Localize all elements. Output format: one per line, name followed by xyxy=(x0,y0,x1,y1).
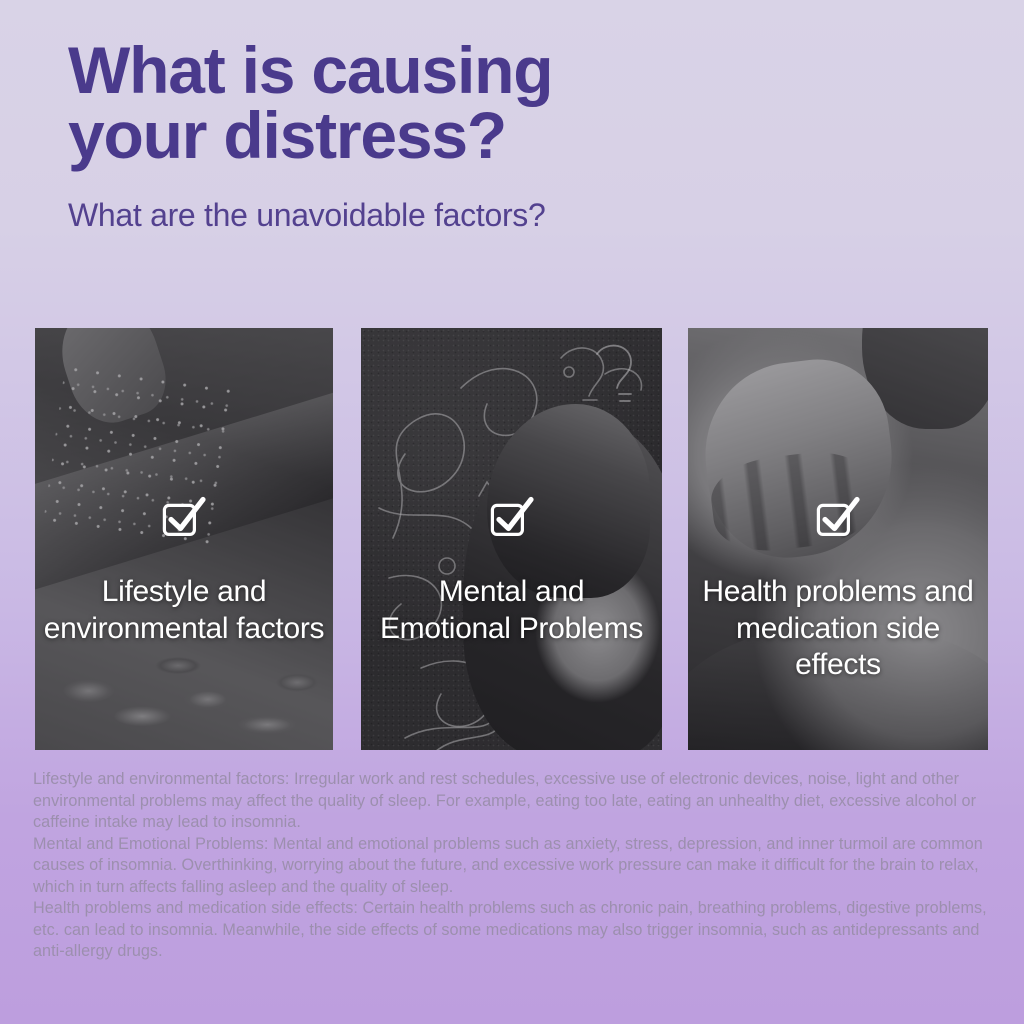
body-copy: Lifestyle and environmental factors: Irr… xyxy=(33,769,991,963)
header: What is causing your distress? What are … xyxy=(68,38,828,234)
card-caption-line-2: medication side effects xyxy=(736,612,940,682)
body-paragraph-lifestyle: Lifestyle and environmental factors: Irr… xyxy=(33,769,991,834)
headline-line-2: your distress? xyxy=(68,103,828,168)
factor-cards-row: Lifestyle and environmental factors xyxy=(0,328,1024,750)
checked-checkbox-icon xyxy=(489,496,535,543)
card-caption-line-1: Lifestyle and xyxy=(102,575,267,608)
card-caption-line-2: environmental factors xyxy=(44,612,325,645)
headline-line-1: What is causing xyxy=(68,33,552,107)
card-caption-line-1: Mental and xyxy=(439,575,584,608)
checked-checkbox-icon xyxy=(161,496,207,543)
card-caption: Health problems and medication side effe… xyxy=(688,574,988,684)
card-caption: Lifestyle and environmental factors xyxy=(35,574,333,647)
card-content: Health problems and medication side effe… xyxy=(688,328,988,750)
card-caption: Mental and Emotional Problems xyxy=(361,574,662,647)
card-caption-line-2: Emotional Problems xyxy=(380,612,643,645)
factor-card-mental: Mental and Emotional Problems xyxy=(361,328,662,750)
body-paragraph-health: Health problems and medication side effe… xyxy=(33,898,991,963)
page-title: What is causing your distress? xyxy=(68,38,828,169)
factor-card-health: Health problems and medication side effe… xyxy=(688,328,988,750)
checked-checkbox-icon xyxy=(815,496,861,543)
card-content: Lifestyle and environmental factors xyxy=(35,328,333,750)
body-paragraph-mental: Mental and Emotional Problems: Mental an… xyxy=(33,834,991,899)
card-caption-line-1: Health problems and xyxy=(702,575,973,608)
card-content: Mental and Emotional Problems xyxy=(361,328,662,750)
subheading: What are the unavoidable factors? xyxy=(68,197,828,234)
factor-card-lifestyle: Lifestyle and environmental factors xyxy=(35,328,333,750)
